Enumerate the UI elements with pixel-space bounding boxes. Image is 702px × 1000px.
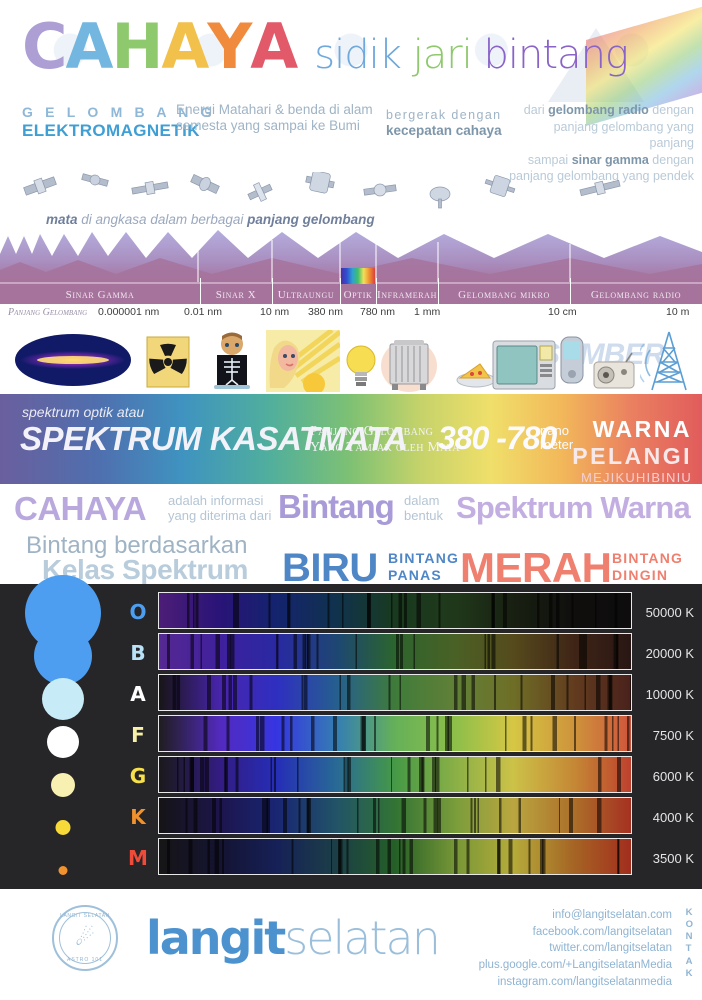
spectral-class-O[interactable]: O: [120, 600, 156, 624]
kontak-letter: O: [686, 919, 694, 931]
infographic-sheet: C A H A Y A sidik jari bintang G E L O M…: [0, 0, 702, 1000]
footer: LANGIT SELATAN ☄ ASTRO 101 langitselatan…: [0, 889, 702, 987]
statement-spektrum-warna: Spektrum Warna: [456, 490, 690, 526]
telescope-icon: [81, 172, 109, 188]
spectra-rows: [158, 592, 632, 879]
module-icon: [483, 173, 517, 199]
temperature-label: 4000 K: [636, 797, 702, 838]
dingin-line2: DINGIN: [612, 567, 683, 584]
panas-line2: PANAS: [388, 567, 459, 584]
star-disc: [59, 866, 68, 875]
spectral-class-A[interactable]: A: [120, 682, 156, 706]
wavelength-value: 0.01 nm: [184, 306, 222, 318]
dalam-line1: dalam: [404, 494, 443, 509]
statement-dalam: dalam bentuk: [404, 494, 443, 523]
spectrum-row-B[interactable]: [158, 633, 632, 670]
em-divider: [340, 278, 341, 306]
brand-logo[interactable]: langitselatan: [146, 911, 439, 965]
mobile-phone-icon: [558, 336, 586, 384]
title-letter: A: [161, 18, 207, 77]
subtitle-part: sidik: [314, 32, 412, 78]
optik-rainbow-chip: [341, 268, 375, 284]
em-divider: [272, 278, 273, 306]
caption-rest: di angkasa dalam berbagai: [78, 212, 248, 227]
temperature-label: 6000 K: [636, 756, 702, 797]
visible-spectrum-banner: spektrum optik atau SPEKTRUM KASATMATA P…: [0, 394, 702, 484]
wavelength-value: 10 nm: [260, 306, 289, 318]
satellites-caption: mata di angkasa dalam berbagai panjang g…: [46, 212, 375, 227]
page-title: C A H A Y A sidik jari bintang: [22, 18, 628, 78]
radio-l1a: dari: [524, 103, 548, 117]
kontak-letter: N: [686, 931, 694, 943]
xray-body-icon: [206, 332, 258, 390]
spectral-class-letters: OBAFGKM: [120, 590, 156, 883]
caption-bold-1: mata: [46, 212, 78, 227]
warna-line2: PELANGI: [572, 443, 692, 470]
wavelength-scale: Panjang Gelombang 0.000001 nm 0.01 nm 10…: [0, 304, 702, 324]
spectrum-row-O[interactable]: [158, 592, 632, 629]
brand-bold: langit: [146, 911, 284, 965]
statement-adalah: adalah informasi yang diterima dari: [168, 494, 271, 523]
pizza-icon: [456, 360, 496, 388]
spectrum-row-K[interactable]: [158, 797, 632, 834]
em-band-ultraungu[interactable]: Ultraungu: [272, 284, 340, 306]
wavelength-scale-title: Panjang Gelombang: [8, 307, 87, 318]
visible-unit: nano meter: [540, 424, 573, 451]
probe-icon: [131, 179, 169, 197]
warna-line3: MEJIKUHIBINIU: [572, 470, 692, 485]
kontak-vertical-label: K O N T A K: [686, 907, 694, 980]
star-disc: [42, 678, 84, 720]
warna-pelangi-block: WARNA PELANGI MEJIKUHIBINIU: [572, 416, 692, 485]
spectral-class-K[interactable]: K: [120, 805, 156, 829]
subtitle-part: jari: [413, 32, 484, 78]
antenna-icon: [245, 179, 274, 205]
spectral-class-F[interactable]: F: [120, 723, 156, 747]
radio-l1b: gelombang radio: [548, 103, 649, 117]
sources-row: SUMBER: [0, 324, 702, 394]
bergerak-line2: kecepatan cahaya: [386, 123, 506, 139]
em-divider: [570, 278, 571, 306]
radio-l3a: sampai: [528, 153, 572, 167]
subtitle-part: bintang: [484, 32, 628, 78]
contact-list: info@langitselatan.com facebook.com/lang…: [479, 907, 672, 990]
dish-icon: [430, 187, 450, 208]
contact-instagram[interactable]: instagram.com/langitselatanmedia: [479, 974, 672, 991]
statement-cahaya: CAHAYA: [14, 490, 146, 528]
title-letter: H: [112, 18, 162, 77]
wavelength-value: 1 mm: [414, 306, 440, 318]
absorption-lines: [159, 634, 631, 669]
caption-bold-2: panjang gelombang: [247, 212, 375, 227]
em-band-sinar-x[interactable]: Sinar X: [200, 284, 272, 306]
absorption-lines: [159, 675, 631, 710]
star-disc: [34, 627, 92, 685]
heater-infrared-icon: [380, 336, 438, 392]
wavelength-value: 10 m: [666, 306, 689, 318]
contact-facebook[interactable]: facebook.com/langitselatan: [479, 924, 672, 941]
star-disc: [56, 820, 71, 835]
adalah-line1: adalah informasi: [168, 494, 271, 509]
statement-bintang-dingin: BINTANG DINGIN: [612, 550, 683, 584]
radio-line3: sampai sinar gamma dengan: [508, 152, 694, 169]
dingin-line1: BINTANG: [612, 550, 683, 567]
absorption-lines: [159, 798, 631, 833]
em-band-optik[interactable]: Optik: [340, 284, 376, 306]
relay-icon: [579, 177, 621, 198]
radio-line2: panjang gelombang yang panjang: [508, 119, 694, 152]
spectrum-row-M[interactable]: [158, 838, 632, 875]
kontak-letter: T: [686, 943, 694, 955]
star-disc: [47, 726, 79, 758]
dalam-line2: bentuk: [404, 509, 443, 524]
header: C A H A Y A sidik jari bintang: [0, 0, 702, 100]
em-divider: [376, 278, 377, 306]
em-band-gelombang-radio[interactable]: Gelombang radio: [570, 284, 702, 306]
intro-bergerak-text: bergerak dengan kecepatan cahaya: [386, 108, 506, 140]
title-letter: A: [250, 18, 296, 77]
title-letter: C: [22, 18, 66, 77]
kontak-letter: K: [686, 968, 694, 980]
microwave-icon: [492, 340, 556, 390]
temperature-label: 50000 K: [636, 592, 702, 633]
intro-energi-text: Energi Matahari & benda di alam semesta …: [176, 102, 376, 135]
absorption-lines: [159, 716, 631, 751]
satellite-icon: [23, 174, 58, 198]
brand-light: selatan: [284, 911, 439, 965]
subtitle: sidik jari bintang: [314, 32, 628, 78]
em-band-inframerah[interactable]: Inframerah: [376, 284, 438, 306]
observatory-icon: [189, 172, 220, 196]
bergerak-line1: bergerak dengan: [386, 108, 506, 123]
seal-bottom-text: ASTRO 101: [54, 957, 116, 963]
warna-line1: WARNA: [572, 416, 692, 443]
statement-block: CAHAYA adalah informasi yang diterima da…: [0, 484, 702, 584]
em-spectrum-bar: Sinar Gamma Sinar X Ultraungu Optik Infr…: [0, 282, 702, 304]
contact-email[interactable]: info@langitselatan.com: [479, 907, 672, 924]
temperature-label: 20000 K: [636, 633, 702, 674]
radio-l3c: dengan: [649, 153, 694, 167]
visible-small-label: spektrum optik atau: [22, 404, 144, 420]
panas-line1: BINTANG: [388, 550, 459, 567]
statement-bintang: Bintang: [278, 488, 394, 526]
radio-line1: dari gelombang radio dengan: [508, 102, 694, 119]
title-letter: Y: [207, 18, 250, 77]
lightbulb-icon: [344, 342, 378, 388]
galaxy-gamma-icon: [14, 332, 132, 388]
absorption-lines: [159, 839, 631, 874]
space-telescope-icon: [304, 172, 336, 195]
wavelength-value: 0.000001 nm: [98, 306, 159, 318]
intro-text-row: G E L O M B A N G ELEKTROMAGNETIK Energi…: [0, 100, 702, 172]
unit-line2: meter: [540, 438, 573, 452]
em-band-sinar-gamma[interactable]: Sinar Gamma: [0, 284, 200, 306]
wavelength-value: 380 nm: [308, 306, 343, 318]
absorption-lines: [159, 757, 631, 792]
temperature-label: 3500 K: [636, 838, 702, 879]
spectral-class-chart: OBAFGKM 50000 K20000 K10000 K7500 K6000 …: [0, 584, 702, 889]
em-divider: [438, 278, 439, 306]
spectral-class-G[interactable]: G: [120, 764, 156, 788]
contact-gplus[interactable]: plus.google.com/+LangitselatanMedia: [479, 957, 672, 974]
wavelength-value: 10 cm: [548, 306, 577, 318]
star-disc: [51, 773, 75, 797]
visible-range-value: 380 -780: [438, 420, 556, 457]
em-divider: [200, 278, 201, 306]
sun-uv-icon: [266, 330, 340, 392]
contact-twitter[interactable]: twitter.com/langitselatan: [479, 940, 672, 957]
spectrum-row-G[interactable]: [158, 756, 632, 793]
star-size-column: [8, 590, 118, 883]
title-letter: A: [66, 18, 112, 77]
radio-l1c: dengan: [649, 103, 694, 117]
spectral-class-M[interactable]: M: [120, 846, 156, 870]
adalah-line2: yang diterima dari: [168, 509, 271, 524]
temperature-label: 10000 K: [636, 674, 702, 715]
title-cahaya: C A H A Y A: [22, 18, 296, 77]
temperature-column: 50000 K20000 K10000 K7500 K6000 K4000 K3…: [636, 592, 702, 879]
kontak-letter: K: [686, 907, 694, 919]
satellites-waves-band: mata di angkasa dalam berbagai panjang g…: [0, 172, 702, 282]
temperature-label: 7500 K: [636, 715, 702, 756]
spectrum-row-A[interactable]: [158, 674, 632, 711]
radio-tower-icon: [640, 330, 698, 392]
em-band-gelombang-mikro[interactable]: Gelombang mikro: [438, 284, 570, 306]
spectrum-row-F[interactable]: [158, 715, 632, 752]
statement-bintang-panas: BINTANG PANAS: [388, 550, 459, 584]
radio-icon: [592, 352, 638, 390]
absorption-lines: [159, 593, 631, 628]
spectral-class-B[interactable]: B: [120, 641, 156, 665]
kontak-letter: A: [686, 956, 694, 968]
radio-l3b: sinar gamma: [572, 153, 649, 167]
radiation-xray-icon: [146, 336, 190, 388]
unit-line1: nano: [540, 424, 573, 438]
orbiter-icon: [363, 182, 396, 198]
observatory-seal-icon: LANGIT SELATAN ☄ ASTRO 101: [52, 905, 118, 971]
wavelength-value: 780 nm: [360, 306, 395, 318]
